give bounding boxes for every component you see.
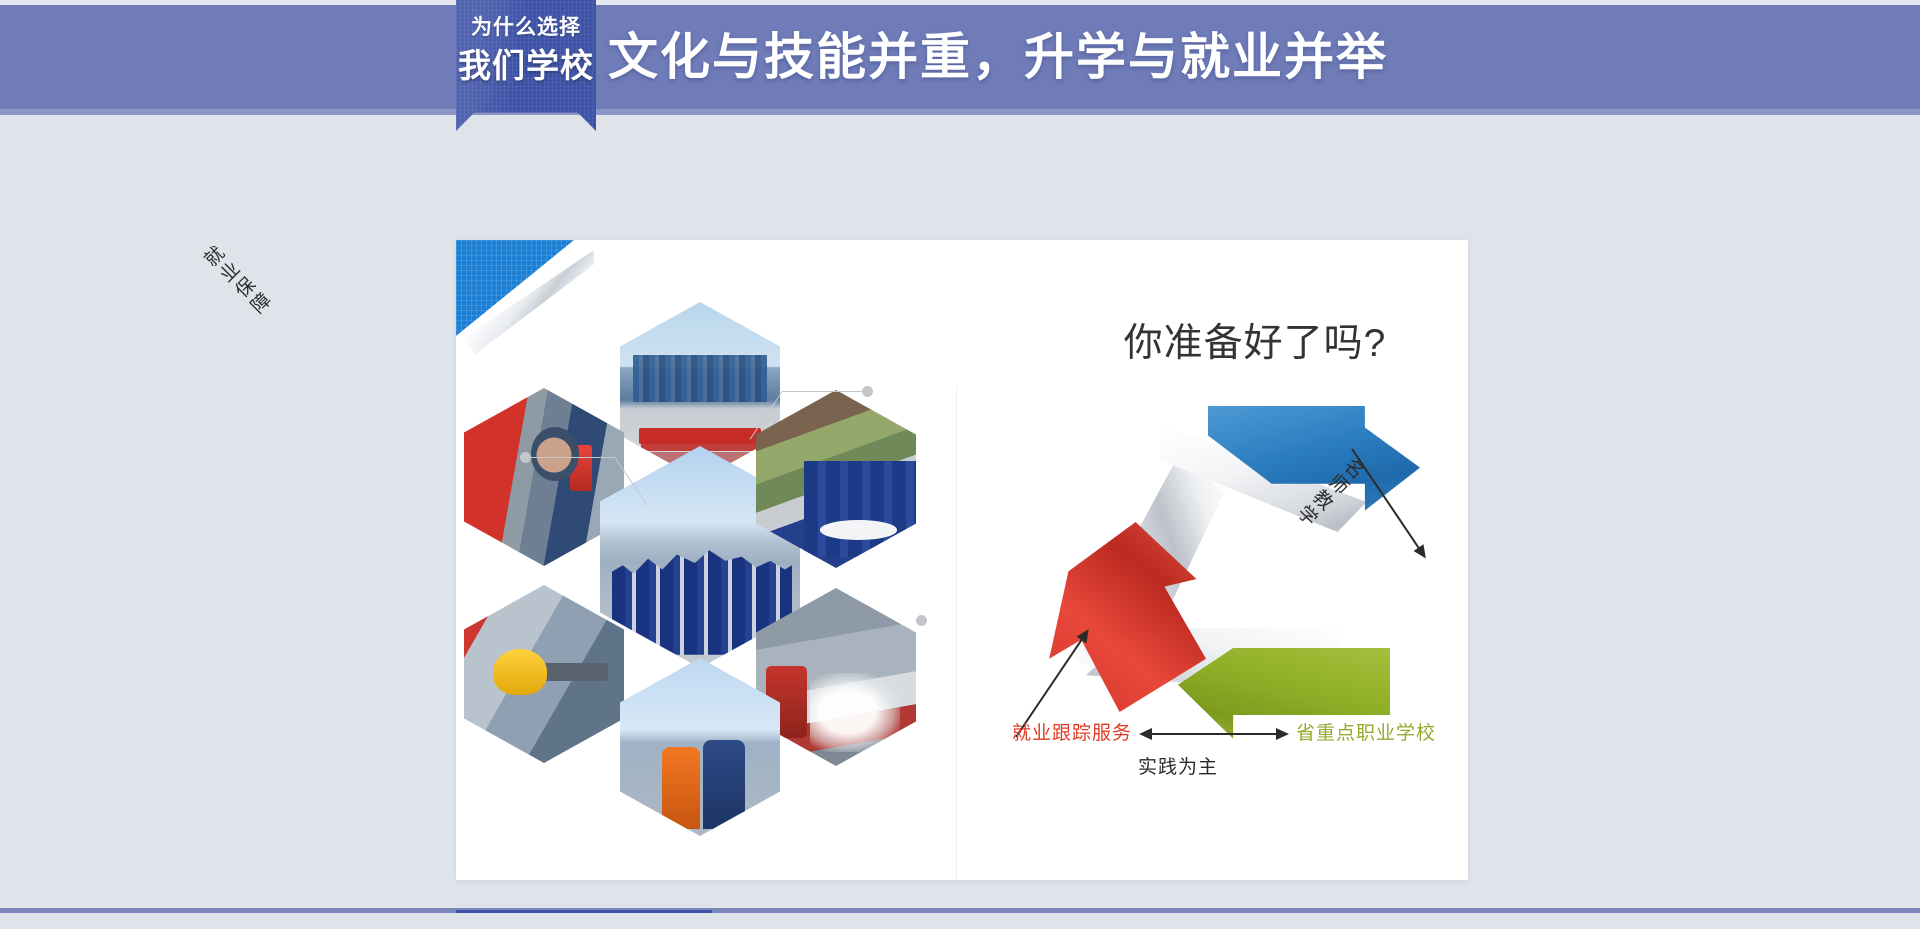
footer-background [0, 913, 1920, 929]
diagram-label-practice-oriented: 实践为主 [1138, 752, 1218, 779]
diagram-label-employment-guarantee: 就业保障 [196, 241, 277, 322]
diagram-double-arrow [1141, 733, 1287, 735]
connector-line-left [530, 457, 614, 458]
diagram-label-key-vocational-school: 省重点职业学校 [1296, 718, 1436, 745]
content-divider [956, 386, 957, 880]
banner-title: 文化与技能并重，升学与就业并举 [608, 32, 1388, 82]
banner-tab-line2: 我们学校 [458, 45, 594, 86]
banner-tab-why-choose-us: 为什么选择 我们学校 [456, 0, 596, 131]
recycle-triangle-diagram [1030, 400, 1460, 740]
page-root: 文化与技能并重，升学与就业并举 为什么选择 我们学校 [0, 0, 1920, 929]
banner-tab-line1: 为什么选择 [471, 17, 581, 38]
card-heading: 你准备好了吗? [1090, 312, 1420, 368]
content-card: 你准备好了吗? [456, 240, 1468, 880]
diagram-label-employment-tracking: 就业跟踪服务 [1012, 718, 1132, 745]
connector-dot-lower-right [916, 615, 927, 626]
banner-bottom-edge [0, 109, 1920, 115]
header-banner: 文化与技能并重，升学与就业并举 [0, 5, 1920, 109]
connector-line-right [782, 391, 866, 392]
hexagon-photo-collage [464, 240, 924, 880]
